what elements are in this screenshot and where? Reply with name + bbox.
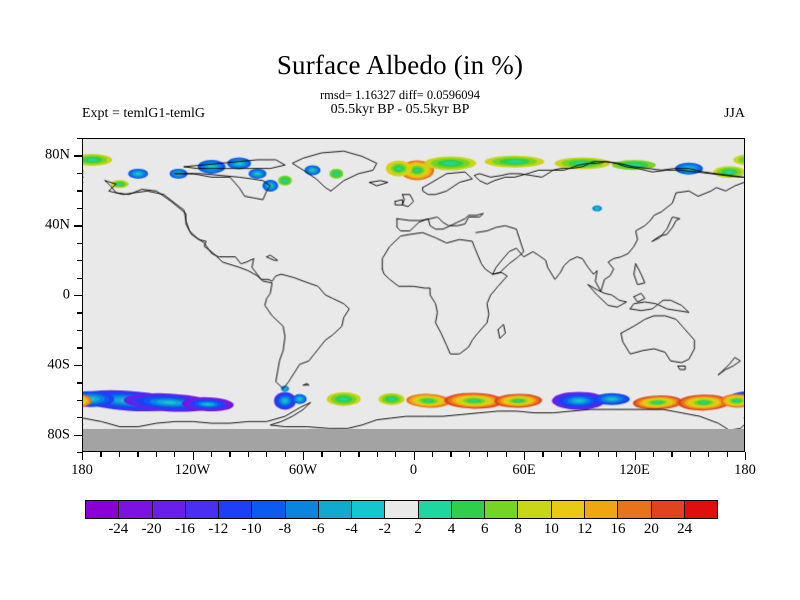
x-minor-tick xyxy=(432,452,433,457)
x-minor-tick xyxy=(671,452,672,457)
colorbar-tick-label: 24 xyxy=(677,521,692,538)
x-minor-tick xyxy=(229,452,230,457)
colorbar-swatch xyxy=(119,501,152,518)
y-minor-tick xyxy=(74,225,82,226)
x-minor-tick xyxy=(137,452,138,457)
colorbar-tick-label: 8 xyxy=(514,521,522,538)
x-minor-tick xyxy=(745,452,746,460)
x-minor-tick xyxy=(395,452,396,457)
colorbar-tick-label: -16 xyxy=(175,521,195,538)
y-axis-label: 0 xyxy=(36,287,70,304)
colorbar-swatch xyxy=(419,501,452,518)
x-minor-tick xyxy=(487,452,488,457)
colorbar-tick-label: -24 xyxy=(108,521,128,538)
y-minor-tick xyxy=(77,417,82,418)
y-minor-tick xyxy=(74,295,82,296)
colorbar-swatch xyxy=(86,501,119,518)
colorbar-swatch xyxy=(518,501,551,518)
x-minor-tick xyxy=(653,452,654,457)
x-minor-tick xyxy=(727,452,728,457)
x-minor-tick xyxy=(579,452,580,457)
x-axis-label: 180 xyxy=(734,462,756,479)
colorbar-tick-label: 12 xyxy=(577,521,592,538)
x-axis-label: 120W xyxy=(175,462,210,479)
x-minor-tick xyxy=(377,452,378,457)
y-minor-tick xyxy=(74,435,82,436)
y-minor-tick xyxy=(77,382,82,383)
colorbar-tick-label: -4 xyxy=(345,521,358,538)
colorbar-swatch xyxy=(385,501,418,518)
x-minor-tick xyxy=(506,452,507,457)
y-axis-label: 40S xyxy=(36,356,70,373)
x-axis-label: 60E xyxy=(512,462,535,479)
x-minor-tick xyxy=(156,452,157,457)
season-label: JJA xyxy=(724,106,745,122)
y-minor-tick xyxy=(77,173,82,174)
colorbar-tick-label: 4 xyxy=(448,521,456,538)
y-axis-label: 40N xyxy=(36,217,70,234)
colorbar-tick-label: -2 xyxy=(379,521,392,538)
x-minor-tick xyxy=(303,452,304,460)
y-minor-tick xyxy=(77,312,82,313)
colorbar-swatch xyxy=(319,501,352,518)
colorbar-swatch xyxy=(219,501,252,518)
albedo-anomaly-map xyxy=(83,139,744,451)
colorbar-tick-label: -6 xyxy=(312,521,325,538)
x-minor-tick xyxy=(524,452,525,460)
x-minor-tick xyxy=(211,452,212,457)
colorbar-tick-label: -10 xyxy=(242,521,262,538)
colorbar-swatch xyxy=(153,501,186,518)
colorbar xyxy=(85,500,718,519)
x-minor-tick xyxy=(635,452,636,460)
page-title: Surface Albedo (in %) xyxy=(0,50,800,81)
colorbar-swatch xyxy=(552,501,585,518)
y-minor-tick xyxy=(77,347,82,348)
statistics-line: rmsd= 1.16327 diff= 0.0596094 xyxy=(0,88,800,103)
figure-canvas: Surface Albedo (in %) rmsd= 1.16327 diff… xyxy=(0,0,800,600)
y-minor-tick xyxy=(77,400,82,401)
x-minor-tick xyxy=(450,452,451,457)
colorbar-tick-label: -8 xyxy=(279,521,292,538)
x-minor-tick xyxy=(598,452,599,457)
colorbar-swatch xyxy=(485,501,518,518)
x-minor-tick xyxy=(414,452,415,460)
x-minor-tick xyxy=(266,452,267,457)
colorbar-tick-label: -20 xyxy=(142,521,162,538)
colorbar-tick-label: 16 xyxy=(611,521,626,538)
colorbar-swatch xyxy=(352,501,385,518)
x-axis-label: 180 xyxy=(71,462,93,479)
y-minor-tick xyxy=(77,138,82,139)
x-minor-tick xyxy=(119,452,120,457)
colorbar-tick-label: -12 xyxy=(208,521,228,538)
colorbar-tick-label: 20 xyxy=(644,521,659,538)
y-minor-tick xyxy=(77,243,82,244)
colorbar-swatch xyxy=(652,501,685,518)
x-minor-tick xyxy=(82,452,83,460)
colorbar-tick-label: 10 xyxy=(544,521,559,538)
colorbar-swatch xyxy=(585,501,618,518)
colorbar-swatch xyxy=(252,501,285,518)
x-minor-tick xyxy=(174,452,175,457)
y-minor-tick xyxy=(77,330,82,331)
x-minor-tick xyxy=(340,452,341,457)
colorbar-swatch xyxy=(685,501,717,518)
colorbar-tick-label: 6 xyxy=(481,521,489,538)
antarctica-band xyxy=(83,429,744,451)
colorbar-swatch xyxy=(452,501,485,518)
x-minor-tick xyxy=(542,452,543,457)
colorbar-swatch xyxy=(618,501,651,518)
colorbar-swatch xyxy=(186,501,219,518)
colorbar-swatch xyxy=(286,501,319,518)
x-minor-tick xyxy=(321,452,322,457)
y-minor-tick xyxy=(77,190,82,191)
x-minor-tick xyxy=(100,452,101,457)
x-minor-tick xyxy=(561,452,562,457)
y-axis-label: 80S xyxy=(36,426,70,443)
x-axis-label: 0 xyxy=(410,462,417,479)
x-axis-label: 120E xyxy=(619,462,650,479)
y-minor-tick xyxy=(77,278,82,279)
x-minor-tick xyxy=(708,452,709,457)
y-axis-label: 80N xyxy=(36,147,70,164)
experiment-label: Expt = temlG1-temlG xyxy=(82,106,205,122)
x-minor-tick xyxy=(690,452,691,457)
x-minor-tick xyxy=(358,452,359,457)
x-minor-tick xyxy=(285,452,286,457)
x-minor-tick xyxy=(616,452,617,457)
map-plot-area xyxy=(82,138,745,452)
x-axis-label: 60W xyxy=(289,462,317,479)
x-minor-tick xyxy=(469,452,470,457)
y-minor-tick xyxy=(77,260,82,261)
y-minor-tick xyxy=(77,208,82,209)
colorbar-tick-label: 2 xyxy=(414,521,422,538)
x-minor-tick xyxy=(193,452,194,460)
y-minor-tick xyxy=(77,452,82,453)
x-minor-tick xyxy=(248,452,249,457)
y-minor-tick xyxy=(74,155,82,156)
y-minor-tick xyxy=(74,365,82,366)
